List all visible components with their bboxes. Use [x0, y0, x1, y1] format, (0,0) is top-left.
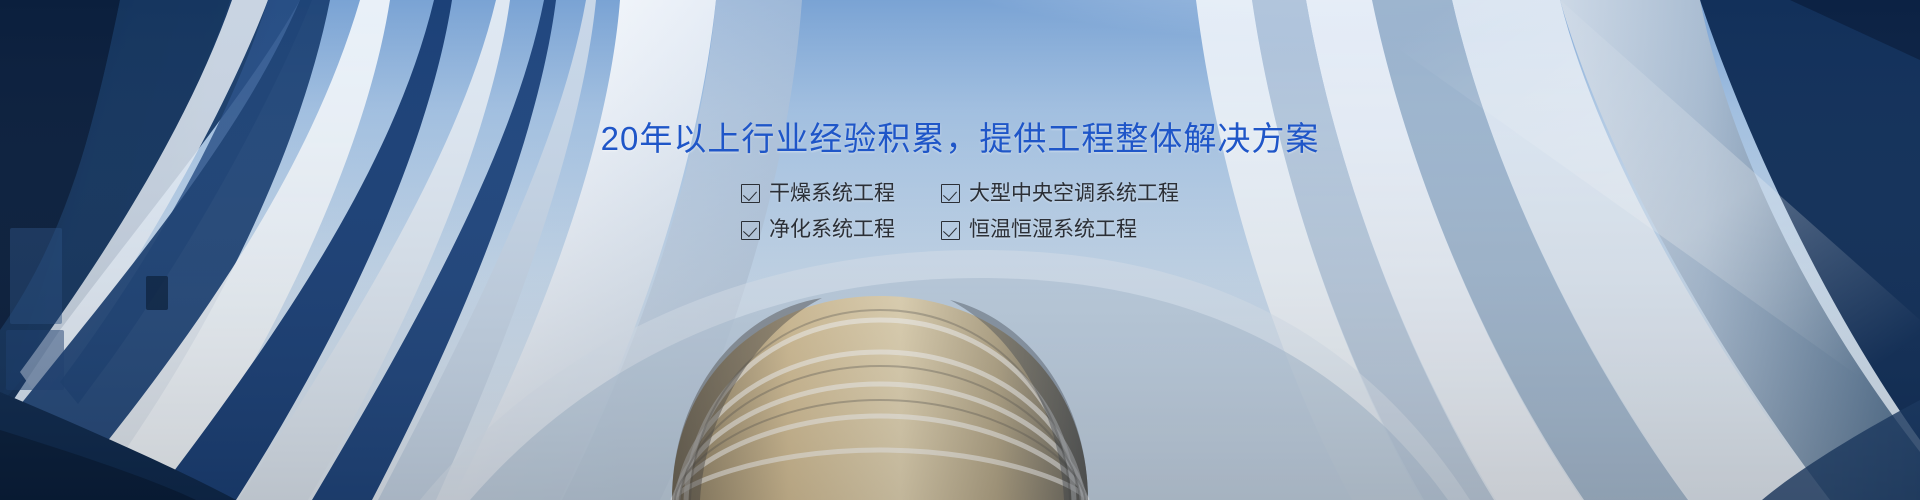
checkbox-checked-icon [741, 221, 760, 240]
banner-headline: 20年以上行业经验积累，提供工程整体解决方案 [601, 118, 1320, 159]
feature-label: 大型中央空调系统工程 [969, 181, 1179, 206]
feature-label: 干燥系统工程 [769, 181, 895, 206]
checkbox-checked-icon [941, 221, 960, 240]
feature-item: 大型中央空调系统工程 [941, 181, 1179, 206]
checkbox-checked-icon [941, 184, 960, 203]
feature-item: 净化系统工程 [741, 217, 895, 242]
feature-item: 干燥系统工程 [741, 181, 895, 206]
feature-item: 恒温恒湿系统工程 [941, 217, 1179, 242]
feature-label: 净化系统工程 [769, 217, 895, 242]
feature-label: 恒温恒湿系统工程 [969, 217, 1137, 242]
hero-banner: 20年以上行业经验积累，提供工程整体解决方案 干燥系统工程 大型中央空调系统工程… [0, 0, 1920, 500]
banner-content: 20年以上行业经验积累，提供工程整体解决方案 干燥系统工程 大型中央空调系统工程… [0, 0, 1920, 500]
feature-list: 干燥系统工程 大型中央空调系统工程 净化系统工程 恒温恒湿系统工程 [741, 181, 1179, 242]
checkbox-checked-icon [741, 184, 760, 203]
